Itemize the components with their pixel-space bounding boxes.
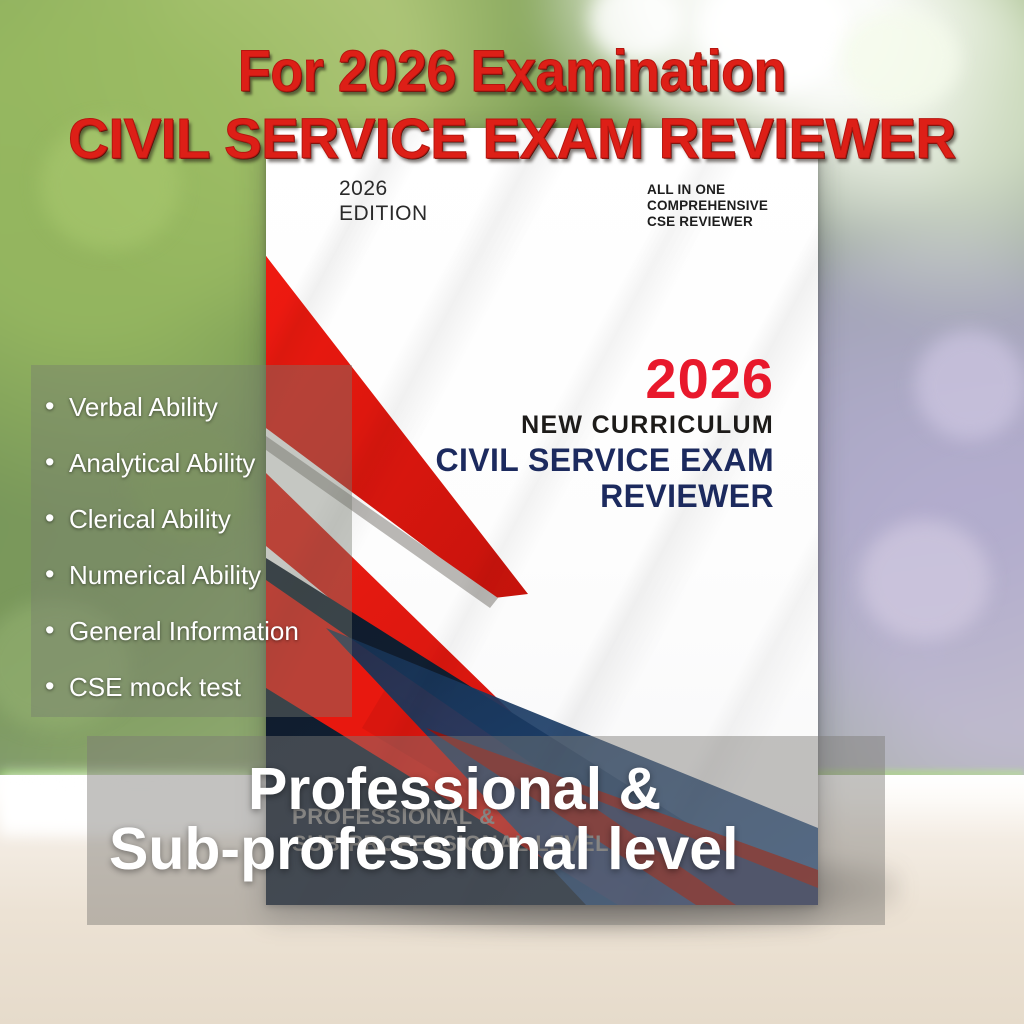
badge-line-2: COMPREHENSIVE (647, 198, 768, 214)
bokeh-highlight-4 (915, 330, 1024, 440)
cover-title-main-line2: REVIEWER (356, 478, 774, 514)
badge-line-3: CSE REVIEWER (647, 214, 768, 230)
level-banner-line-2: Sub-professional level (109, 818, 739, 880)
edition-label: 2026 EDITION (339, 176, 428, 226)
cover-title-block: 2026 NEW CURRICULUM CIVIL SERVICE EXAM R… (356, 350, 774, 514)
list-item: Analytical Ability (31, 448, 352, 478)
list-item: Numerical Ability (31, 560, 352, 590)
feature-list: Verbal Ability Analytical Ability Cleric… (31, 365, 352, 702)
promo-image: 2026 EDITION ALL IN ONE COMPREHENSIVE CS… (0, 0, 1024, 1024)
edition-year: 2026 (339, 176, 428, 201)
edition-word: EDITION (339, 201, 428, 226)
bokeh-highlight-5 (860, 520, 990, 640)
list-item: Clerical Ability (31, 504, 352, 534)
cover-title-curriculum: NEW CURRICULUM (356, 408, 774, 442)
headline-line-1: For 2026 Examination (36, 42, 988, 102)
headline-line-2: CIVIL SERVICE EXAM REVIEWER (5, 108, 1019, 170)
cover-title-year: 2026 (356, 350, 774, 408)
list-item: CSE mock test (31, 672, 352, 702)
level-banner: Professional & Sub-professional level (87, 736, 885, 925)
feature-list-panel: Verbal Ability Analytical Ability Cleric… (31, 365, 352, 717)
promo-headline: For 2026 Examination CIVIL SERVICE EXAM … (0, 42, 1024, 170)
cover-title-main-line1: CIVIL SERVICE EXAM (356, 442, 774, 478)
list-item: General Information (31, 616, 352, 646)
list-item: Verbal Ability (31, 392, 352, 422)
level-banner-line-1: Professional & (248, 758, 661, 820)
all-in-one-badge: ALL IN ONE COMPREHENSIVE CSE REVIEWER (647, 182, 768, 230)
badge-line-1: ALL IN ONE (647, 182, 768, 198)
